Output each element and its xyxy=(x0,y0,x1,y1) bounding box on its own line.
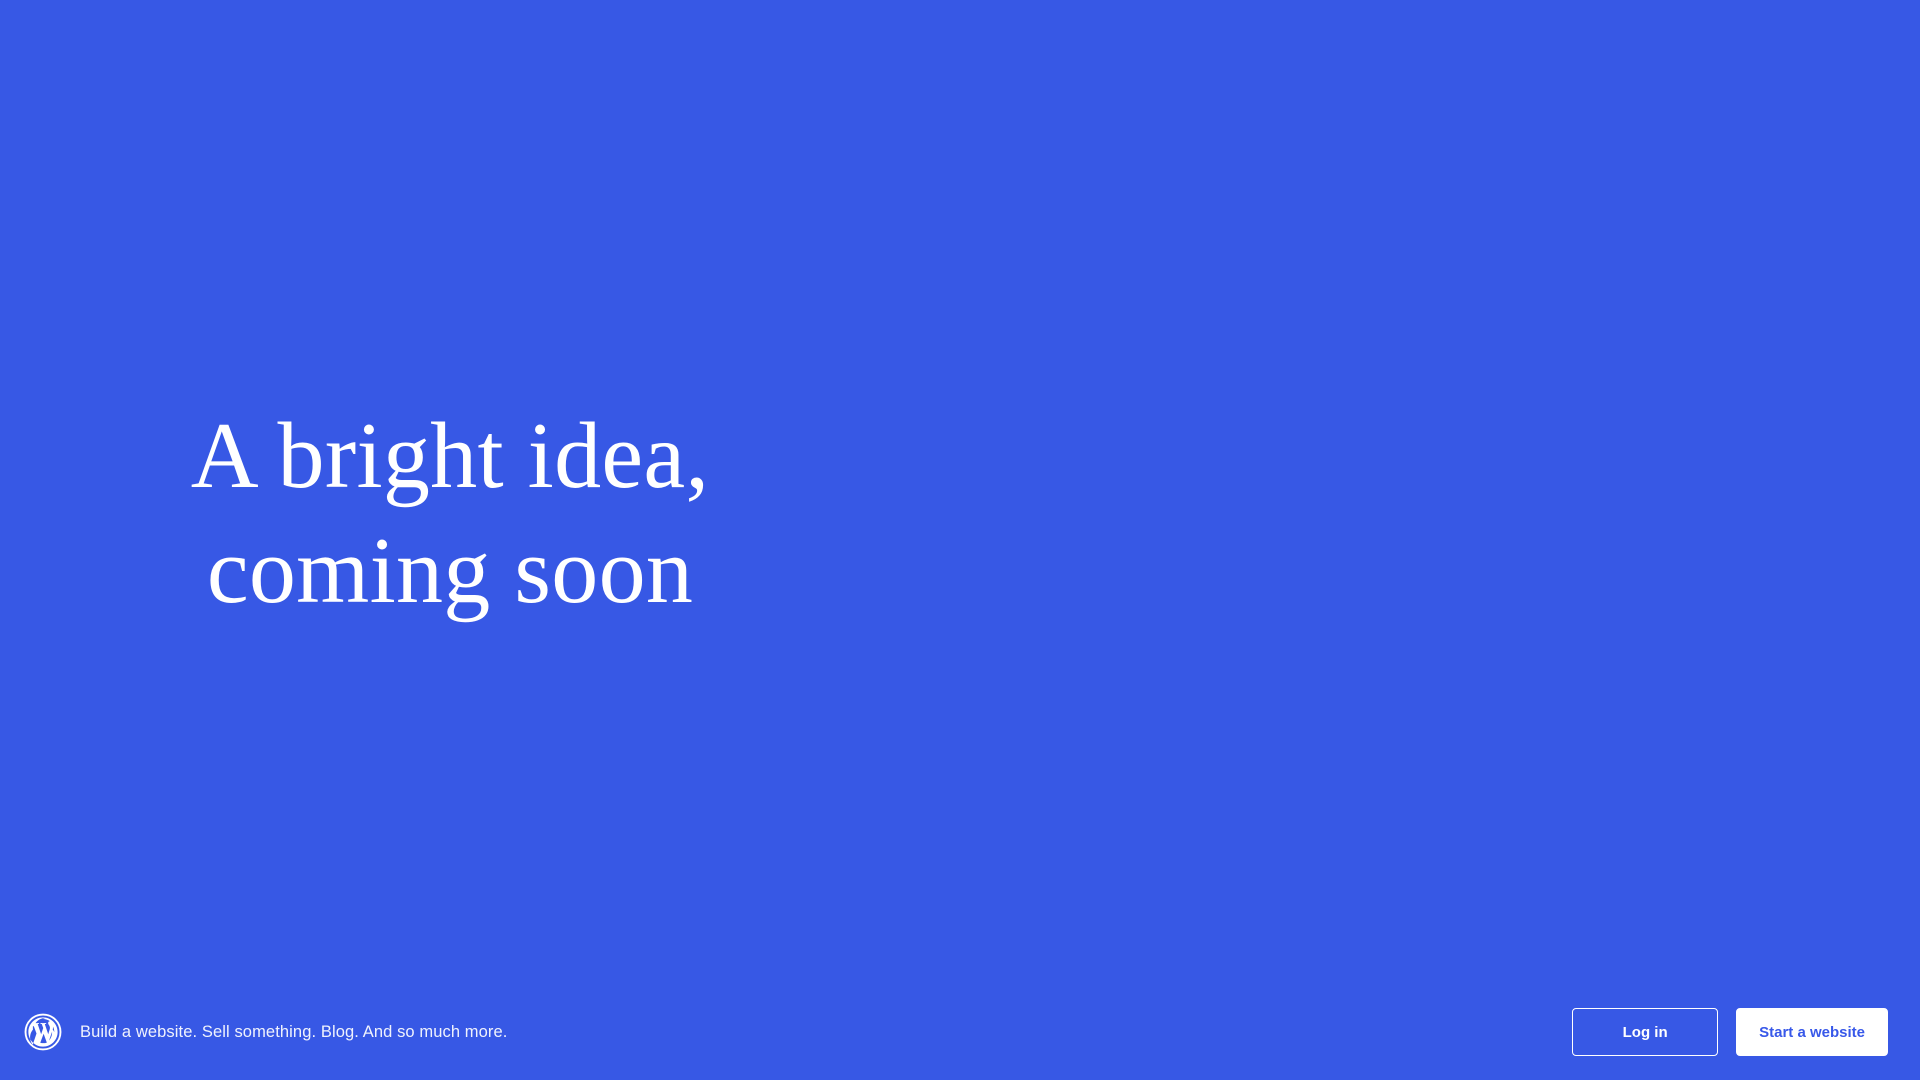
bottom-bar-tagline: Build a website. Sell something. Blog. A… xyxy=(80,1024,508,1041)
bottom-bar-left: Build a website. Sell something. Blog. A… xyxy=(24,1013,508,1051)
bottom-bar-actions: Log in Start a website xyxy=(1572,1008,1888,1056)
wordpress-icon xyxy=(24,1013,62,1051)
hero-content: A bright idea, coming soon xyxy=(0,451,740,628)
hero-section: A bright idea, coming soon xyxy=(0,0,1920,1080)
bottom-bar: Build a website. Sell something. Blog. A… xyxy=(0,984,1920,1080)
wordpress-logo-link[interactable] xyxy=(24,1013,62,1051)
start-a-website-button[interactable]: Start a website xyxy=(1736,1008,1888,1056)
log-in-button[interactable]: Log in xyxy=(1572,1008,1718,1056)
page-title: A bright idea, coming soon xyxy=(160,399,740,628)
